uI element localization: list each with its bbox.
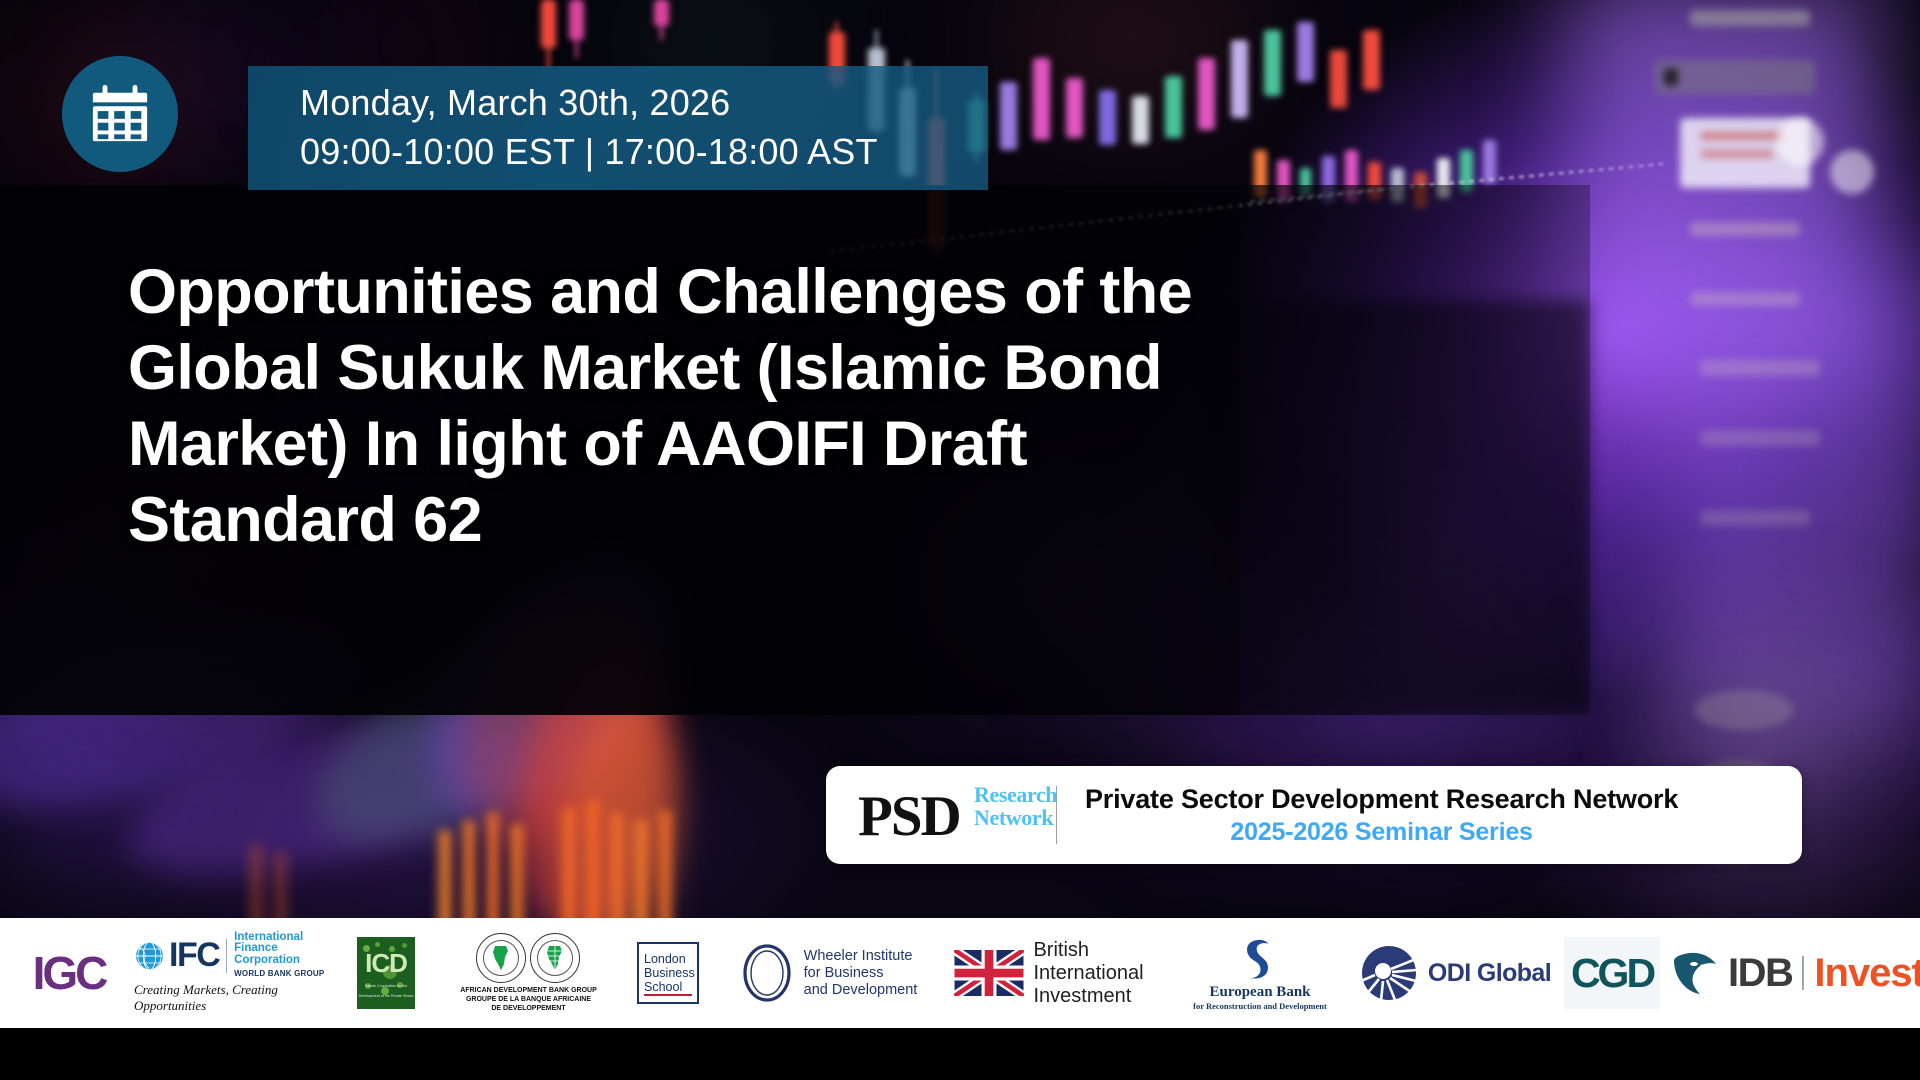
- afdb-caption-3: DE DEVELOPPEMENT: [460, 1004, 597, 1013]
- partner-logo-strip: IGC: [0, 918, 1920, 1028]
- psd-network-title: Private Sector Development Research Netw…: [1085, 783, 1678, 816]
- ifc-divider: [226, 939, 227, 973]
- ebrd-line-2: for Reconstruction and Development: [1193, 1001, 1327, 1011]
- event-banner: Monday, March 30th, 2026 09:00-10:00 EST…: [0, 0, 1920, 1080]
- afdb-logo: AFRICAN DEVELOPMENT BANK GROUP GROUPE DE…: [441, 918, 616, 1028]
- afdb-seal-2: [530, 933, 580, 983]
- icd-caption-2: Development of the Private Sector: [359, 994, 414, 999]
- psd-logo-research: Research: [974, 784, 1057, 807]
- idb-invest-word: Invest: [1814, 951, 1920, 996]
- london-business-school-logo: London Business School: [616, 918, 720, 1028]
- wheeler-ring-icon: [739, 942, 795, 1004]
- lbs-line-1: London: [644, 952, 697, 966]
- bii-line-1: British: [1033, 939, 1143, 962]
- wheeler-line-2: for Business: [804, 965, 918, 982]
- psd-logo: PSD Research Network: [826, 766, 1056, 864]
- ifc-logo: IFC International Finance Corporation WO…: [134, 918, 331, 1028]
- idb-invest-logo: IDB Invest: [1670, 918, 1920, 1028]
- ifc-tagline: Creating Markets, Creating Opportunities: [134, 982, 331, 1014]
- british-international-investment-logo: British International Investment: [936, 918, 1162, 1028]
- idb-swoosh-icon: [1670, 948, 1722, 998]
- ifc-logo-abbr: IFC: [169, 936, 219, 975]
- union-jack-icon: [954, 950, 1024, 996]
- bii-line-2: International: [1033, 962, 1143, 985]
- event-date-box: Monday, March 30th, 2026 09:00-10:00 EST…: [248, 66, 988, 190]
- cgd-logo: CGD: [1554, 918, 1670, 1028]
- bii-line-3: Investment: [1033, 985, 1143, 1008]
- africa-map-icon: [543, 945, 567, 971]
- ebrd-line-1: European Bank: [1209, 984, 1310, 1001]
- psd-logo-letters: PSD: [858, 788, 960, 845]
- ebrd-logo: European Bank for Reconstruction and Dev…: [1162, 918, 1358, 1028]
- igc-logo: IGC: [4, 918, 134, 1028]
- psd-logo-research-network: Research Network: [974, 784, 1057, 829]
- event-title: Opportunities and Challenges of the Glob…: [128, 254, 1308, 558]
- icd-caption-1: Islamic Corporation for the: [365, 984, 407, 989]
- africa-map-icon: [489, 945, 513, 971]
- calendar-icon: [62, 56, 178, 172]
- psd-seminar-series: 2025-2026 Seminar Series: [1085, 816, 1678, 848]
- ebrd-mark-icon: [1237, 936, 1283, 982]
- ifc-line-2: Finance Corporation: [234, 943, 331, 966]
- lbs-line-3: School: [644, 980, 697, 994]
- idb-divider: [1802, 956, 1804, 990]
- psd-text-block: Private Sector Development Research Netw…: [1085, 783, 1678, 848]
- odi-global-logo: ODI Global: [1358, 918, 1554, 1028]
- event-date-line-2: 09:00-10:00 EST | 17:00-18:00 AST: [300, 127, 988, 176]
- igc-logo-text: IGC: [33, 946, 106, 1000]
- event-date-line-1: Monday, March 30th, 2026: [300, 78, 988, 127]
- wheeler-institute-logo: Wheeler Institute for Business and Devel…: [720, 918, 936, 1028]
- lbs-rule: [644, 994, 692, 996]
- psd-research-network-card: PSD Research Network Private Sector Deve…: [826, 766, 1802, 864]
- afdb-caption-2: GROUPE DE LA BANQUE AFRICAINE: [460, 995, 597, 1004]
- bottom-bar: [0, 1028, 1920, 1080]
- afdb-seal-1: [476, 933, 526, 983]
- cgd-logo-text: CGD: [1571, 950, 1653, 997]
- idb-logo-abbr: IDB: [1728, 951, 1792, 996]
- icd-logo: ICD Islamic Corporation for the Developm…: [331, 918, 441, 1028]
- icd-logo-text: ICD: [365, 948, 407, 979]
- odi-burst-icon: [1361, 945, 1417, 1001]
- wheeler-line-3: and Development: [804, 982, 918, 999]
- psd-logo-network: Network: [974, 807, 1057, 830]
- afdb-caption-1: AFRICAN DEVELOPMENT BANK GROUP: [460, 986, 597, 995]
- lbs-line-2: Business: [644, 966, 697, 980]
- globe-icon: [134, 938, 165, 974]
- ifc-line-3: WORLD BANK GROUP: [234, 968, 331, 980]
- wheeler-line-1: Wheeler Institute: [804, 948, 918, 965]
- odi-logo-text: ODI Global: [1428, 959, 1551, 988]
